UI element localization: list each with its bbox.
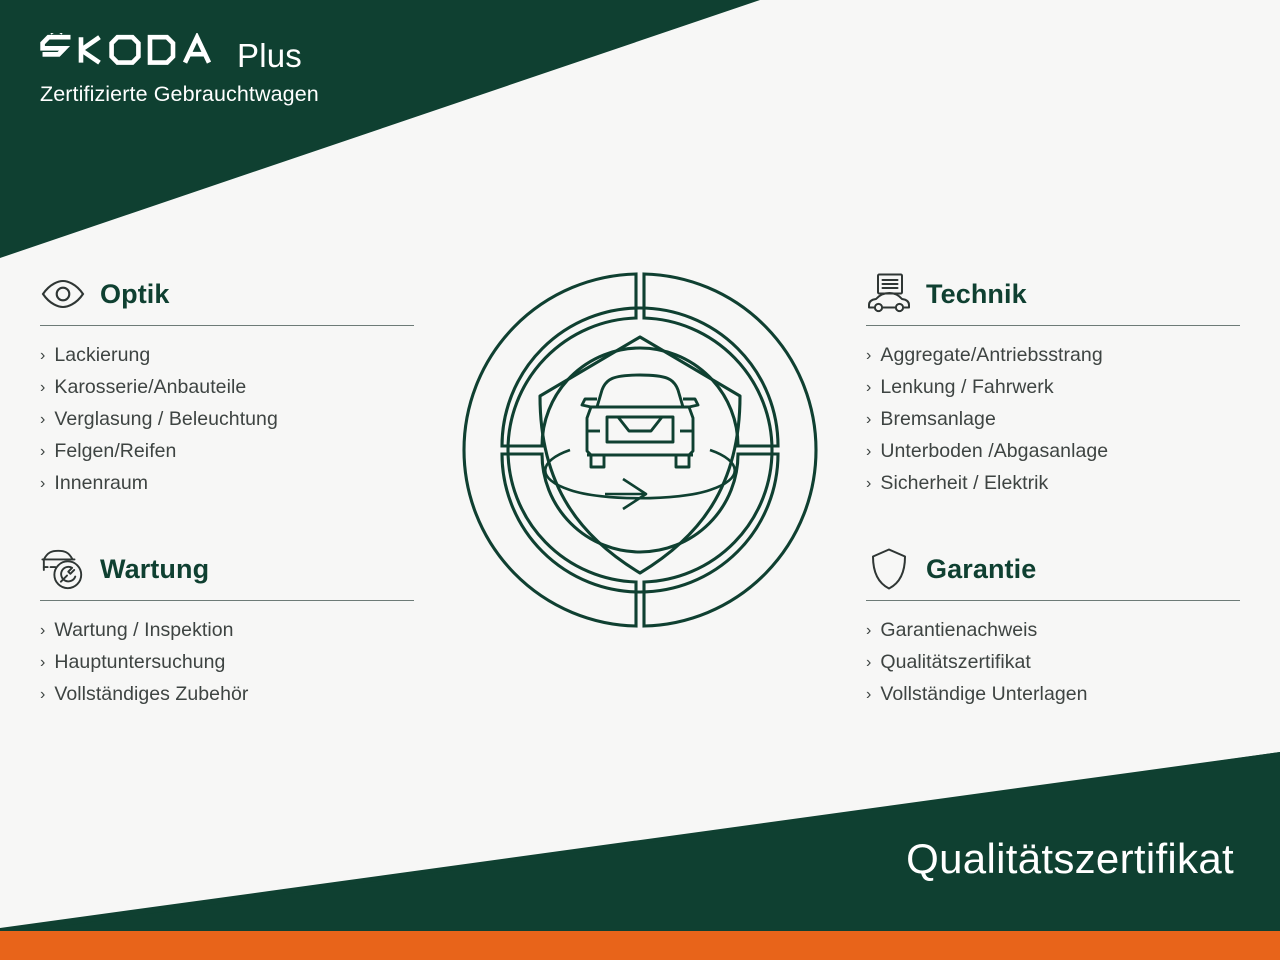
chevron-right-icon: ›: [866, 679, 871, 710]
chevron-right-icon: ›: [866, 372, 871, 403]
footer-title: Qualitätszertifikat: [906, 838, 1234, 880]
chevron-right-icon: ›: [40, 372, 45, 403]
section-technik: Technik ›Aggregate/Antriebsstrang ›Lenku…: [866, 268, 1240, 500]
list-item-label: Wartung / Inspektion: [54, 615, 233, 646]
orange-bottom-bar: [0, 931, 1280, 960]
chevron-right-icon: ›: [40, 679, 45, 710]
brand-subtitle: Zertifizierte Gebrauchtwagen: [40, 82, 319, 107]
skoda-wordmark-icon: [40, 33, 226, 67]
chevron-right-icon: ›: [40, 436, 45, 467]
chevron-right-icon: ›: [40, 404, 45, 435]
section-optik-title: Optik: [100, 281, 170, 308]
section-garantie-header: Garantie: [866, 543, 1240, 595]
list-item-label: Bremsanlage: [880, 404, 995, 435]
car-wrench-icon: [40, 546, 86, 592]
list-item-label: Innenraum: [54, 468, 148, 499]
list-item: ›Qualitätszertifikat: [866, 647, 1240, 679]
section-technik-header: Technik: [866, 268, 1240, 320]
brand-top-row: Plus: [40, 33, 319, 75]
list-item: ›Aggregate/Antriebsstrang: [866, 340, 1240, 372]
list-item: ›Hauptuntersuchung: [40, 647, 414, 679]
chevron-right-icon: ›: [866, 404, 871, 435]
brand-lockup: Plus Zertifizierte Gebrauchtwagen: [40, 33, 319, 107]
shield-icon: [866, 546, 912, 592]
list-item: ›Garantienachweis: [866, 615, 1240, 647]
list-item: ›Lenkung / Fahrwerk: [866, 372, 1240, 404]
list-item-label: Hauptuntersuchung: [54, 647, 225, 678]
list-item: ›Karosserie/Anbauteile: [40, 372, 414, 404]
section-optik-list: ›Lackierung ›Karosserie/Anbauteile ›Verg…: [40, 326, 414, 500]
list-item: ›Verglasung / Beleuchtung: [40, 404, 414, 436]
list-item: ›Wartung / Inspektion: [40, 615, 414, 647]
list-item: ›Lackierung: [40, 340, 414, 372]
chevron-right-icon: ›: [40, 647, 45, 678]
list-item: ›Vollständiges Zubehör: [40, 679, 414, 711]
list-item-label: Lackierung: [54, 340, 150, 371]
list-item: ›Sicherheit / Elektrik: [866, 468, 1240, 500]
list-item: ›Bremsanlage: [866, 404, 1240, 436]
section-garantie-list: ›Garantienachweis ›Qualitätszertifikat ›…: [866, 601, 1240, 711]
list-item: ›Innenraum: [40, 468, 414, 500]
list-item: ›Unterboden /Abgasanlage: [866, 436, 1240, 468]
chevron-right-icon: ›: [866, 468, 871, 499]
list-item-label: Vollständiges Zubehör: [54, 679, 248, 710]
chevron-right-icon: ›: [866, 340, 871, 371]
list-item-label: Lenkung / Fahrwerk: [880, 372, 1053, 403]
list-item-label: Qualitätszertifikat: [880, 647, 1031, 678]
chevron-right-icon: ›: [40, 340, 45, 371]
eye-icon: [40, 271, 86, 317]
list-item-label: Vollständige Unterlagen: [880, 679, 1087, 710]
car-document-icon: [866, 271, 912, 317]
section-garantie-title: Garantie: [926, 556, 1036, 583]
quality-certificate-page: Plus Zertifizierte Gebrauchtwagen Optik …: [0, 0, 1280, 960]
section-wartung-list: ›Wartung / Inspektion ›Hauptuntersuchung…: [40, 601, 414, 711]
section-garantie: Garantie ›Garantienachweis ›Qualitätszer…: [866, 543, 1240, 711]
chevron-right-icon: ›: [40, 615, 45, 646]
list-item-label: Aggregate/Antriebsstrang: [880, 340, 1102, 371]
section-technik-list: ›Aggregate/Antriebsstrang ›Lenkung / Fah…: [866, 326, 1240, 500]
section-wartung-header: Wartung: [40, 543, 414, 595]
list-item-label: Sicherheit / Elektrik: [880, 468, 1048, 499]
list-item-label: Verglasung / Beleuchtung: [54, 404, 277, 435]
list-item-label: Garantienachweis: [880, 615, 1037, 646]
list-item-label: Karosserie/Anbauteile: [54, 372, 246, 403]
section-wartung-title: Wartung: [100, 556, 209, 583]
brand-suffix: Plus: [237, 39, 302, 72]
list-item: ›Vollständige Unterlagen: [866, 679, 1240, 711]
chevron-right-icon: ›: [40, 468, 45, 499]
section-technik-title: Technik: [926, 281, 1027, 308]
shield-car-rotation-emblem: [450, 255, 830, 645]
section-optik: Optik ›Lackierung ›Karosserie/Anbauteile…: [40, 268, 414, 500]
chevron-right-icon: ›: [866, 436, 871, 467]
list-item: ›Felgen/Reifen: [40, 436, 414, 468]
section-wartung: Wartung ›Wartung / Inspektion ›Hauptunte…: [40, 543, 414, 711]
chevron-right-icon: ›: [866, 647, 871, 678]
list-item-label: Felgen/Reifen: [54, 436, 176, 467]
section-optik-header: Optik: [40, 268, 414, 320]
chevron-right-icon: ›: [866, 615, 871, 646]
list-item-label: Unterboden /Abgasanlage: [880, 436, 1108, 467]
